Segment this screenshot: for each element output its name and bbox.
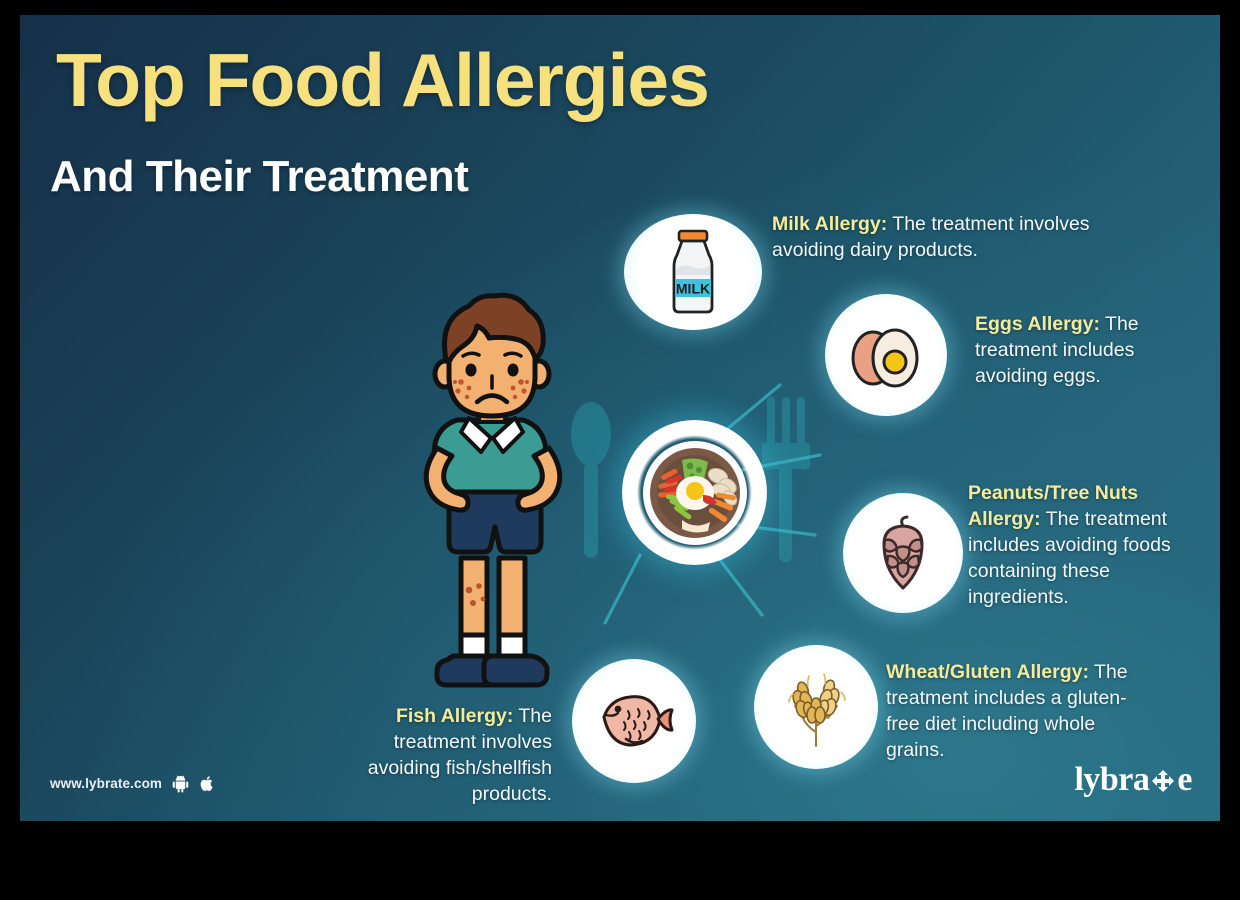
apple-icon[interactable] — [199, 774, 216, 793]
page-title: Top Food Allergies — [56, 43, 709, 118]
eggs-icon — [825, 294, 947, 416]
allergic-boy-illustration — [395, 290, 585, 695]
fish-icon — [572, 659, 696, 783]
eggs-allergy-title: Eggs Allergy: — [975, 313, 1100, 335]
logo-text-left: lybra — [1074, 761, 1149, 799]
diamond-plus-icon — [1149, 768, 1177, 796]
svg-text:MILK: MILK — [676, 281, 710, 297]
fish-allergy-title: Fish Allergy: — [396, 705, 513, 727]
peanuts-allergy-text: Peanuts/Tree Nuts Allergy: The treatment… — [968, 481, 1200, 611]
lybrate-logo[interactable]: lybra e — [1074, 761, 1192, 799]
screenshot-frame: Top Food Allergies And Their Treatment — [0, 0, 1240, 900]
website-url: www.lybrate.com — [50, 776, 162, 791]
food-plate-icon — [622, 420, 767, 565]
android-icon[interactable] — [171, 774, 190, 793]
page-subtitle: And Their Treatment — [50, 155, 468, 199]
fork-icon — [762, 397, 810, 562]
wheat-allergy-title: Wheat/Gluten Allergy: — [886, 661, 1089, 683]
footer-website[interactable]: www.lybrate.com — [50, 774, 216, 793]
logo-text-right: e — [1177, 761, 1192, 799]
wheat-icon — [754, 645, 878, 769]
eggs-allergy-text: Eggs Allergy: The treatment includes avo… — [975, 312, 1187, 390]
milk-bottle-icon: MILK — [624, 214, 762, 330]
wheat-allergy-text: Wheat/Gluten Allergy: The treatment incl… — [886, 660, 1142, 764]
peanut-tree-nut-icon — [843, 493, 963, 613]
milk-allergy-title: Milk Allergy: — [772, 213, 887, 235]
infographic-canvas: Top Food Allergies And Their Treatment — [20, 15, 1220, 821]
milk-allergy-text: Milk Allergy: The treatment involves avo… — [772, 212, 1144, 264]
fish-allergy-text: Fish Allergy: The treatment involves avo… — [320, 704, 552, 808]
